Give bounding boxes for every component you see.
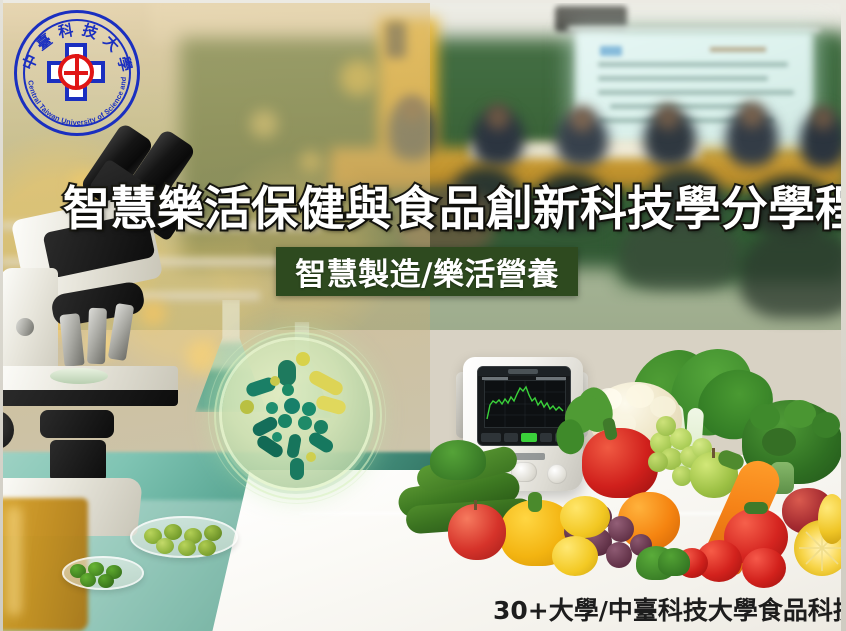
capsule — [156, 538, 174, 554]
device-button-menu[interactable] — [481, 433, 501, 442]
broccoli-floret — [812, 412, 840, 438]
device-waveform-chart — [485, 381, 565, 427]
cherry-tomato — [742, 548, 786, 588]
grape — [672, 466, 692, 486]
colony — [282, 384, 294, 396]
colony — [284, 398, 300, 414]
petri-dish-bacteria — [222, 340, 370, 488]
colony — [278, 360, 296, 386]
grape — [656, 416, 676, 436]
mini-petri-dish-back — [130, 516, 238, 558]
cauliflower-floret — [650, 396, 676, 418]
colony — [266, 402, 278, 414]
microscope-objective — [87, 308, 107, 365]
page-title: 智慧樂活保健與食品創新科技學分學程 — [63, 186, 783, 233]
device-knob-right[interactable] — [547, 464, 567, 484]
frame-edge-right — [841, 0, 846, 631]
tomato-calyx — [744, 502, 768, 514]
broccoli-small — [658, 548, 690, 576]
microscope-stage-clip — [0, 390, 178, 406]
slide-line — [598, 90, 794, 95]
red-bell-pepper — [582, 428, 658, 498]
bokeh-light — [300, 150, 322, 172]
colony — [240, 400, 254, 414]
person-head — [812, 106, 834, 130]
colony — [315, 394, 348, 416]
beaker-highlight — [6, 506, 22, 616]
capsule — [80, 573, 96, 587]
broccoli-floret — [750, 404, 780, 430]
lemon — [552, 536, 598, 576]
microscope-illuminator — [50, 440, 106, 482]
colony — [302, 402, 316, 416]
slide-line — [610, 104, 750, 109]
slide-line — [598, 76, 768, 81]
person-head — [656, 104, 680, 130]
apple-stem — [712, 448, 715, 458]
slide-title-line — [710, 47, 766, 52]
microscope-knob — [16, 318, 34, 336]
colony — [270, 376, 280, 386]
colony — [296, 352, 310, 366]
device-screen-header — [478, 367, 570, 376]
person-head — [740, 102, 764, 128]
capsule — [204, 525, 222, 541]
slide-logo — [600, 46, 622, 56]
slide-line — [598, 62, 788, 67]
frame-edge-left — [0, 0, 3, 631]
subtitle-text: 智慧製造/樂活營養 — [295, 249, 559, 294]
lemon — [560, 496, 610, 538]
device-button-run[interactable] — [521, 433, 537, 442]
broccoli-floret — [762, 428, 796, 456]
mini-petri-dish-front — [62, 556, 144, 590]
device-button-mode[interactable] — [504, 433, 518, 442]
colony — [307, 368, 345, 397]
colony — [306, 452, 316, 462]
university-logo: 中臺科技大學 Central Taiwan University of Scie… — [14, 10, 140, 136]
microscope-condenser — [40, 410, 114, 438]
colony — [290, 458, 304, 480]
bokeh-light — [340, 60, 376, 96]
person-head — [570, 106, 594, 132]
logo-emblem-icon — [58, 54, 94, 90]
grape — [608, 516, 634, 542]
colony — [272, 432, 282, 442]
device-button-save[interactable] — [540, 433, 552, 442]
poster-canvas: 中臺科技大學 Central Taiwan University of Scie… — [0, 0, 846, 631]
pepper-stem — [528, 492, 542, 512]
capsule — [98, 574, 114, 588]
microscope-slide — [50, 368, 108, 384]
colony — [286, 433, 302, 459]
colony — [278, 414, 292, 428]
footer-credit: 30+大學/中臺科技大學食品科技系 — [493, 591, 846, 627]
apple-stem — [474, 500, 477, 510]
person-head — [486, 104, 510, 130]
colony — [298, 416, 312, 430]
device-plot — [484, 380, 566, 428]
frame-edge-top — [0, 0, 846, 3]
device-brand-logo — [508, 369, 538, 374]
audience-head — [740, 228, 846, 318]
device-button-row[interactable] — [481, 433, 567, 442]
subtitle-banner: 智慧製造/樂活營養 — [276, 247, 578, 296]
capsule — [198, 540, 216, 556]
bokeh-light — [250, 110, 278, 138]
red-apple — [448, 504, 506, 560]
grape — [648, 452, 668, 472]
grape — [606, 542, 632, 568]
capsule — [178, 540, 196, 556]
broccoli-small — [430, 440, 486, 480]
